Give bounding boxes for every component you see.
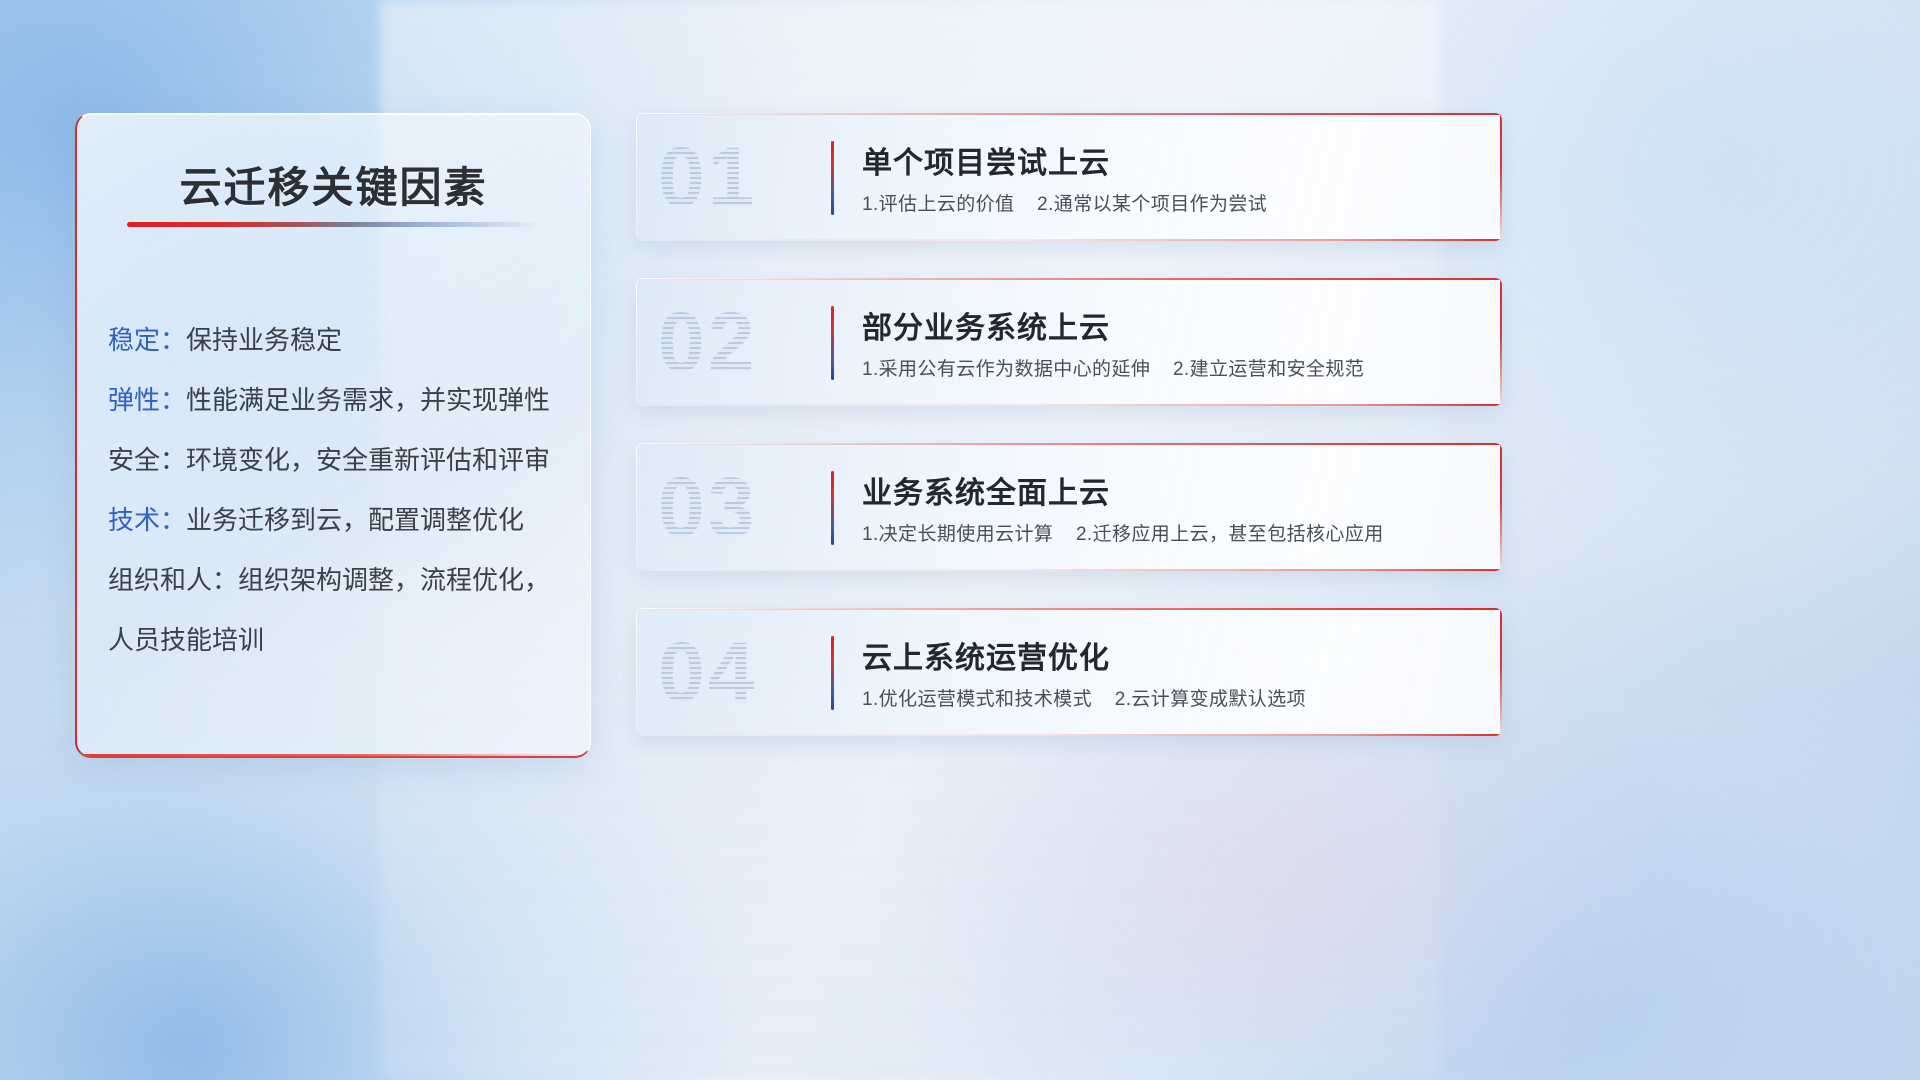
card-accent-top: [636, 608, 1502, 610]
card-divider-bar: [831, 471, 834, 545]
stage-description: 1.采用公有云作为数据中心的延伸 2.建立运营和安全规范: [862, 354, 1364, 381]
stage-number: 04: [658, 622, 808, 722]
stage-description: 1.评估上云的价值 2.通常以某个项目作为尝试: [862, 189, 1267, 216]
factor-value: 业务迁移到云，配置调整优化: [186, 505, 524, 535]
title-underline-accent: [127, 222, 537, 227]
factor-value: 保持业务稳定: [186, 325, 342, 355]
stage-card[interactable]: 04 云上系统运营优化 1.优化运营模式和技术模式 2.云计算变成默认选项: [636, 608, 1502, 736]
list-item: 弹性：性能满足业务需求，并实现弹性: [108, 370, 566, 430]
card-divider-bar: [831, 141, 834, 215]
list-item: 组织和人：组织架构调整，流程优化，: [108, 550, 566, 610]
list-item: 安全：环境变化，安全重新评估和评审: [108, 430, 566, 490]
slide-canvas: 云迁移关键因素 稳定：保持业务稳定 弹性：性能满足业务需求，并实现弹性 安全：环…: [0, 0, 1920, 1080]
stage-description: 1.决定长期使用云计算 2.迁移应用上云，甚至包括核心应用: [862, 519, 1384, 546]
card-accent-top: [636, 113, 1502, 115]
card-accent-right: [1500, 113, 1502, 241]
factor-value: 组织架构调整，流程优化，: [238, 565, 550, 595]
stage-title: 业务系统全面上云: [862, 468, 1110, 512]
list-item: 稳定：保持业务稳定: [108, 310, 566, 370]
card-accent-bottom: [636, 404, 1502, 406]
factor-value: 环境变化，安全重新评估和评审: [186, 445, 550, 475]
stage-title: 部分业务系统上云: [862, 303, 1110, 347]
card-edge-left: [636, 608, 637, 736]
card-accent-bottom: [636, 734, 1502, 736]
list-item: 人员技能培训: [108, 610, 566, 670]
card-divider-bar: [831, 636, 834, 710]
card-accent-right: [1500, 608, 1502, 736]
list-item: 技术：业务迁移到云，配置调整优化: [108, 490, 566, 550]
stage-card[interactable]: 02 部分业务系统上云 1.采用公有云作为数据中心的延伸 2.建立运营和安全规范: [636, 278, 1502, 406]
stage-number: 02: [658, 292, 808, 392]
card-edge-left: [636, 278, 637, 406]
card-accent-bottom: [636, 569, 1502, 571]
stage-number: 03: [658, 457, 808, 557]
card-accent-top: [636, 278, 1502, 280]
factor-value: 性能满足业务需求，并实现弹性: [186, 385, 550, 415]
stage-card[interactable]: 01 单个项目尝试上云 1.评估上云的价值 2.通常以某个项目作为尝试: [636, 113, 1502, 241]
factor-label: 稳定：: [108, 325, 186, 355]
card-accent-bottom: [636, 239, 1502, 241]
page-title: 云迁移关键因素: [77, 154, 590, 215]
card-accent-right: [1500, 278, 1502, 406]
card-divider-bar: [831, 306, 834, 380]
stage-title: 单个项目尝试上云: [862, 138, 1110, 182]
stage-card[interactable]: 03 业务系统全面上云 1.决定长期使用云计算 2.迁移应用上云，甚至包括核心应…: [636, 443, 1502, 571]
key-factors-panel: 云迁移关键因素 稳定：保持业务稳定 弹性：性能满足业务需求，并实现弹性 安全：环…: [75, 113, 591, 758]
factor-label: 技术：: [108, 505, 186, 535]
stage-number: 01: [658, 127, 808, 227]
factor-label: 组织和人：: [108, 565, 238, 595]
card-edge-left: [636, 113, 637, 241]
stage-title: 云上系统运营优化: [862, 633, 1110, 677]
card-accent-right: [1500, 443, 1502, 571]
factor-label: 安全：: [108, 445, 186, 475]
card-edge-left: [636, 443, 637, 571]
factor-label: 弹性：: [108, 385, 186, 415]
factor-value: 人员技能培训: [108, 625, 264, 655]
key-factors-list: 稳定：保持业务稳定 弹性：性能满足业务需求，并实现弹性 安全：环境变化，安全重新…: [108, 310, 566, 670]
stage-description: 1.优化运营模式和技术模式 2.云计算变成默认选项: [862, 684, 1306, 711]
card-accent-top: [636, 443, 1502, 445]
stage-card-list: 01 单个项目尝试上云 1.评估上云的价值 2.通常以某个项目作为尝试 02 部…: [636, 113, 1502, 773]
